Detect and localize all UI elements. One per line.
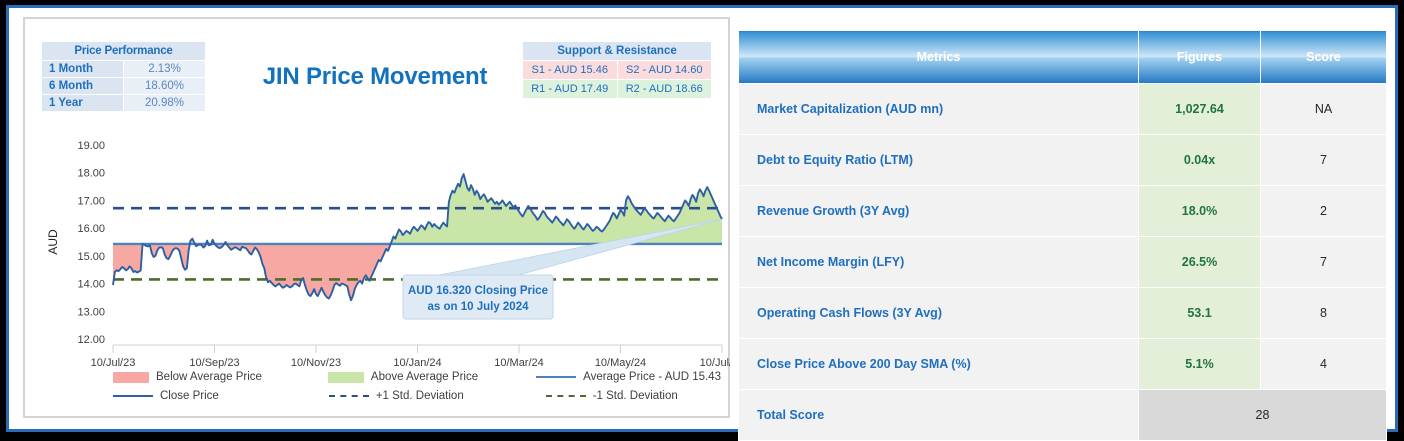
column-header-score: Score [1261, 31, 1387, 84]
metric-name: Operating Cash Flows (3Y Avg) [739, 288, 1139, 339]
metric-score: 4 [1261, 339, 1387, 390]
legend-item-close-price: Close Price [113, 390, 219, 402]
perf-label-6-month: 6 Month [42, 78, 123, 94]
metric-figure: 1,027.64 [1139, 84, 1261, 135]
metric-name: Debt to Equity Ratio (LTM) [739, 135, 1139, 186]
plus-1-std-swatch [329, 395, 369, 397]
chart-title: JIN Price Movement [205, 63, 545, 91]
metric-score: 7 [1261, 237, 1387, 288]
price-chart-panel: Price Performance 1 Month 2.13% 6 Month … [23, 17, 730, 418]
table-row: 1 Year 20.98% [42, 95, 205, 111]
perf-value-1-month: 2.13% [124, 61, 205, 77]
resistance-level-1: R1 - AUD 17.49 [523, 80, 617, 98]
table-row: Close Price Above 200 Day SMA (%)5.1%4 [739, 339, 1387, 390]
average-price-swatch [536, 376, 576, 378]
metric-score: 8 [1261, 288, 1387, 339]
price-plot-svg: 19.0018.0017.0016.0015.0014.0013.0012.00… [25, 127, 730, 377]
y-axis-tick-label: 12.00 [77, 334, 105, 346]
close-price-swatch [113, 395, 153, 397]
perf-label-1-month: 1 Month [42, 61, 123, 77]
price-performance-table: Price Performance 1 Month 2.13% 6 Month … [41, 41, 206, 112]
metric-score: 2 [1261, 186, 1387, 237]
x-axis-tick-label: 10/Jan/24 [393, 357, 441, 369]
price-plot: 19.0018.0017.0016.0015.0014.0013.0012.00… [25, 127, 730, 377]
y-axis-tick-label: 14.00 [77, 279, 105, 291]
table-row: Operating Cash Flows (3Y Avg)53.18 [739, 288, 1387, 339]
column-header-metrics: Metrics [739, 31, 1139, 84]
legend-row-1: Below Average Price Above Average Price … [25, 371, 730, 383]
total-score-label: Total Score [739, 390, 1139, 441]
metric-figure: 26.5% [1139, 237, 1261, 288]
metric-name: Market Capitalization (AUD mn) [739, 84, 1139, 135]
y-axis-tick-label: 17.00 [77, 195, 105, 207]
table-row: Revenue Growth (3Y Avg)18.0%2 [739, 186, 1387, 237]
perf-value-1-year: 20.98% [124, 95, 205, 111]
metric-figure: 5.1% [1139, 339, 1261, 390]
table-row: S1 - AUD 15.46 S2 - AUD 14.60 [523, 61, 711, 79]
metric-score: NA [1261, 84, 1387, 135]
below-average-price-swatch [113, 372, 149, 383]
support-level-1: S1 - AUD 15.46 [523, 61, 617, 79]
legend-item-below-average-price: Below Average Price [113, 371, 262, 383]
table-row: Net Income Margin (LFY)26.5%7 [739, 237, 1387, 288]
table-row: Support & Resistance [523, 42, 711, 60]
column-header-figures: Figures [1139, 31, 1261, 84]
resistance-level-2: R2 - AUD 18.66 [618, 80, 712, 98]
support-resistance-header: Support & Resistance [523, 42, 711, 60]
legend-item-minus-1-std: -1 Std. Deviation [546, 390, 678, 402]
support-resistance-table: Support & Resistance S1 - AUD 15.46 S2 -… [522, 41, 712, 99]
table-row: R1 - AUD 17.49 R2 - AUD 18.66 [523, 80, 711, 98]
x-axis-tick-label: 10/May/24 [595, 357, 646, 369]
support-level-2: S2 - AUD 14.60 [618, 61, 712, 79]
legend-item-average-price: Average Price - AUD 15.43 [536, 371, 721, 383]
legend-label-close-price: Close Price [160, 390, 219, 402]
metric-figure: 0.04x [1139, 135, 1261, 186]
callout-line-2: as on 10 July 2024 [427, 301, 529, 313]
metric-figure: 18.0% [1139, 186, 1261, 237]
y-axis-tick-label: 19.00 [77, 140, 105, 152]
perf-value-6-month: 18.60% [124, 78, 205, 94]
metric-score: 7 [1261, 135, 1387, 186]
table-row: 6 Month 18.60% [42, 78, 205, 94]
chart-legend: Below Average Price Above Average Price … [25, 371, 730, 417]
legend-label-plus-1-std: +1 Std. Deviation [376, 390, 464, 402]
table-row: Market Capitalization (AUD mn)1,027.64NA [739, 84, 1387, 135]
y-axis-tick-label: 16.00 [77, 223, 105, 235]
table-row: 1 Month 2.13% [42, 61, 205, 77]
x-axis-tick-label: 10/Sep/23 [189, 357, 239, 369]
dashboard-frame: Price Performance 1 Month 2.13% 6 Month … [6, 5, 1398, 432]
x-axis-tick-label: 10/Nov/23 [291, 357, 341, 369]
x-axis-tick-label: 10/Jul/23 [91, 357, 136, 369]
price-performance-header: Price Performance [42, 42, 205, 60]
metric-name: Revenue Growth (3Y Avg) [739, 186, 1139, 237]
total-score-value: 28 [1139, 390, 1387, 441]
y-axis-tick-label: 15.00 [77, 251, 105, 263]
table-row: Price Performance [42, 42, 205, 60]
legend-label-minus-1-std: -1 Std. Deviation [593, 390, 678, 402]
metric-figure: 53.1 [1139, 288, 1261, 339]
x-axis-tick-label: 10/Mar/24 [494, 357, 544, 369]
legend-label-below-average-price: Below Average Price [156, 371, 262, 383]
legend-item-above-average-price: Above Average Price [328, 371, 478, 383]
legend-label-average-price: Average Price - AUD 15.43 [583, 371, 721, 383]
metrics-table: Metrics Figures Score Market Capitalizat… [738, 30, 1387, 441]
minus-1-std-swatch [546, 395, 586, 397]
metric-name: Net Income Margin (LFY) [739, 237, 1139, 288]
y-axis-tick-label: 13.00 [77, 306, 105, 318]
metrics-table-header-row: Metrics Figures Score [739, 31, 1387, 84]
x-axis-tick-label: 10/Jul/24 [700, 357, 730, 369]
legend-item-plus-1-std: +1 Std. Deviation [329, 390, 464, 402]
legend-label-above-average-price: Above Average Price [371, 371, 478, 383]
table-row-total: Total Score28 [739, 390, 1387, 441]
callout-line-1: AUD 16.320 Closing Price [408, 285, 548, 297]
legend-row-2: Close Price +1 Std. Deviation -1 Std. De… [25, 390, 730, 402]
above-average-price-swatch [328, 372, 364, 383]
dashboard-body: Price Performance 1 Month 2.13% 6 Month … [9, 8, 1395, 429]
metric-name: Close Price Above 200 Day SMA (%) [739, 339, 1139, 390]
y-axis-tick-label: 18.00 [77, 168, 105, 180]
y-axis-title: AUD [46, 229, 60, 255]
table-row: Debt to Equity Ratio (LTM)0.04x7 [739, 135, 1387, 186]
perf-label-1-year: 1 Year [42, 95, 123, 111]
